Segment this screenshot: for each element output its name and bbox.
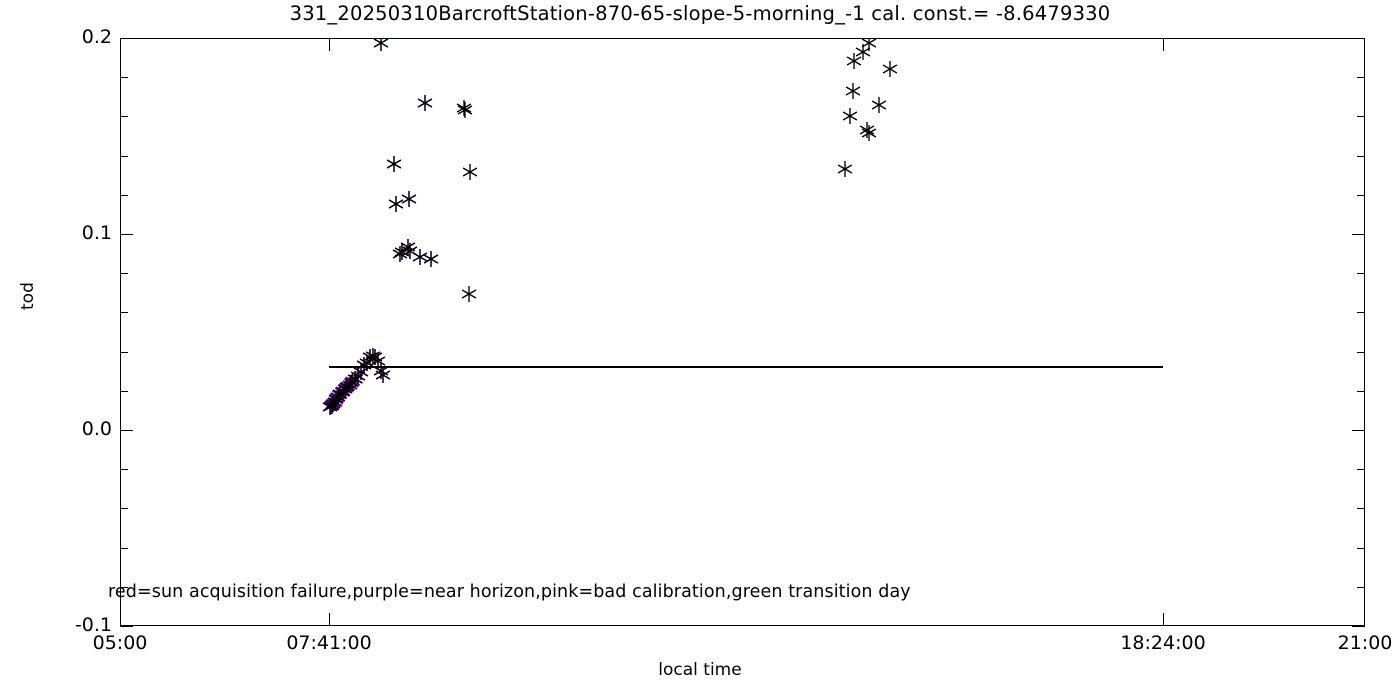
reference-line [329, 366, 1163, 368]
x-axis-tick-label: 05:00 [30, 634, 210, 653]
x-axis-tick-label: 18:24:00 [1073, 634, 1253, 653]
y-axis-tick [1352, 626, 1365, 627]
y-axis-tick [120, 626, 133, 627]
y-axis-tick-label: 0.2 [82, 28, 112, 47]
x-axis-label: local time [0, 660, 1400, 680]
y-axis-label: tod [18, 282, 38, 310]
y-axis-tick-label: 0.1 [82, 224, 112, 243]
x-axis-tick-label: 21:00 [1275, 634, 1400, 653]
page-title: 331_20250310BarcroftStation-870-65-slope… [0, 2, 1400, 25]
y-axis-tick-label: 0.0 [82, 420, 112, 439]
scatter-plot-figure: 331_20250310BarcroftStation-870-65-slope… [0, 0, 1400, 700]
x-axis-tick-label: 07:41:00 [239, 634, 419, 653]
legend-caption: red=sun acquisition failure,purple=near … [108, 582, 911, 602]
plot-data-area [120, 38, 1365, 626]
